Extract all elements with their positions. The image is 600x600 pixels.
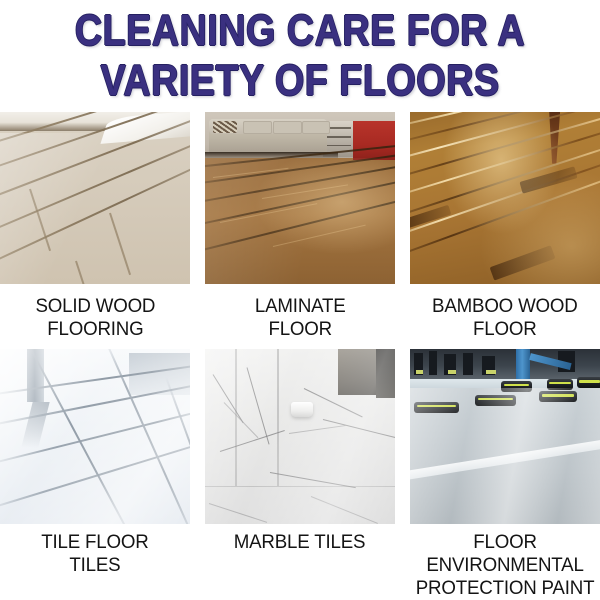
caption-line-1: MARBLE TILES [234, 531, 366, 554]
caption-line-2: TILES [41, 554, 148, 577]
floor-environmental-protection-paint-photo [410, 349, 600, 524]
floor-card-tile[interactable]: TILE FLOOR TILES [0, 349, 190, 600]
floor-card-environmental-paint[interactable]: FLOOR ENVIRONMENTAL PROTECTION PAINT [410, 349, 600, 600]
tile-gloss [0, 349, 190, 524]
floor-card-caption: FLOOR ENVIRONMENTAL PROTECTION PAINT [416, 531, 595, 600]
floor-card-marble[interactable]: MARBLE TILES [205, 349, 395, 600]
machine-indicator [416, 370, 424, 374]
caption-line-1: SOLID WOOD [35, 295, 155, 318]
marble-tiles-photo [205, 349, 395, 524]
page-title-line-1: CLEANING CARE FOR A [42, 6, 558, 56]
sofa-cushion [243, 121, 272, 133]
floor-card-caption: MARBLE TILES [234, 531, 366, 554]
bamboo-highlight [410, 112, 600, 284]
floor-types-row-2: TILE FLOOR TILES [0, 349, 600, 600]
floor-card-caption: LAMINATE FLOOR [255, 295, 346, 341]
machine-indicator [486, 370, 496, 374]
marble-sheen [205, 349, 395, 524]
floor-sheen [0, 133, 190, 284]
bamboo-wood-floor-photo [410, 112, 600, 284]
caption-line-2: ENVIRONMENTAL [416, 554, 595, 577]
floor-types-row-1: SOLID WOOD FLOORING [0, 112, 600, 341]
floor-gloss [205, 158, 395, 284]
floor-card-caption: TILE FLOOR TILES [41, 531, 148, 577]
page-title: CLEANING CARE FOR A VARIETY OF FLOORS [0, 0, 600, 106]
blue-column [516, 349, 529, 382]
floor-card-solid-wood[interactable]: SOLID WOOD FLOORING [0, 112, 190, 341]
caption-line-2: FLOOR [432, 318, 578, 341]
caption-line-1: BAMBOO WOOD [432, 295, 578, 318]
caption-line-1: LAMINATE [255, 295, 346, 318]
red-cabinet [353, 121, 395, 161]
floor-card-bamboo-wood[interactable]: BAMBOO WOOD FLOOR [410, 112, 600, 341]
caption-line-2: FLOORING [35, 318, 155, 341]
floor-card-laminate[interactable]: LAMINATE FLOOR [205, 112, 395, 341]
sofa-cushion [302, 121, 331, 133]
epoxy-gloss [410, 388, 600, 525]
solid-wood-flooring-photo [0, 112, 190, 284]
floor-card-caption: SOLID WOOD FLOORING [35, 295, 155, 341]
page-title-line-2: VARIETY OF FLOORS [42, 56, 558, 106]
caption-line-2: FLOOR [255, 318, 346, 341]
floor-types-grid: SOLID WOOD FLOORING [0, 112, 600, 600]
machine-part [429, 351, 437, 376]
tile-floor-tiles-photo [0, 349, 190, 524]
shelf-line [325, 136, 352, 138]
caption-line-1: TILE FLOOR [41, 531, 148, 554]
laminate-floor-photo [205, 112, 395, 284]
floor-card-caption: BAMBOO WOOD FLOOR [432, 295, 578, 341]
machine-indicator [448, 370, 456, 374]
sofa-cushion [273, 121, 302, 133]
caption-line-1: FLOOR [416, 531, 595, 554]
shelf-line [325, 145, 352, 147]
machine-part [463, 353, 473, 376]
striped-pillow [213, 121, 238, 133]
caption-line-3: PROTECTION PAINT [416, 577, 595, 600]
